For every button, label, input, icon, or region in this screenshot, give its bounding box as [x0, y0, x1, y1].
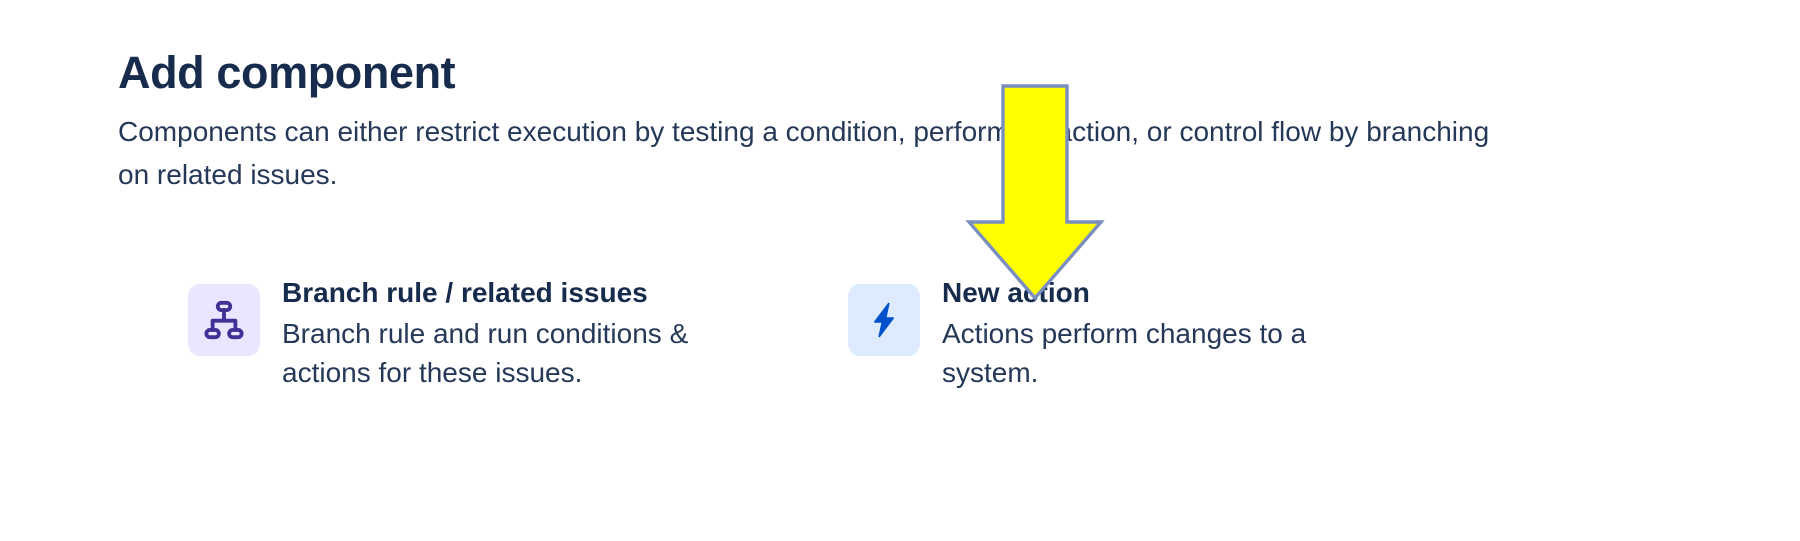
component-option-list: Branch rule / related issues Branch rule… [188, 272, 1368, 392]
option-branch-rule-title: Branch rule / related issues [282, 274, 702, 312]
option-new-action-title: New action [942, 274, 1342, 312]
lightning-bolt-icon [848, 284, 920, 356]
option-branch-rule-text: Branch rule / related issues Branch rule… [282, 272, 702, 392]
page-title: Add component [118, 46, 1538, 99]
option-new-action-description: Actions perform changes to a system. [942, 314, 1342, 392]
add-component-panel: Add component Components can either rest… [0, 0, 1800, 541]
page-description: Components can either restrict execution… [118, 111, 1493, 196]
branch-hierarchy-icon [188, 284, 260, 356]
panel-header: Add component Components can either rest… [118, 46, 1538, 196]
option-branch-rule[interactable]: Branch rule / related issues Branch rule… [188, 272, 708, 392]
option-new-action-text: New action Actions perform changes to a … [942, 272, 1342, 392]
option-new-action[interactable]: New action Actions perform changes to a … [848, 272, 1368, 392]
option-branch-rule-description: Branch rule and run conditions & actions… [282, 314, 702, 392]
